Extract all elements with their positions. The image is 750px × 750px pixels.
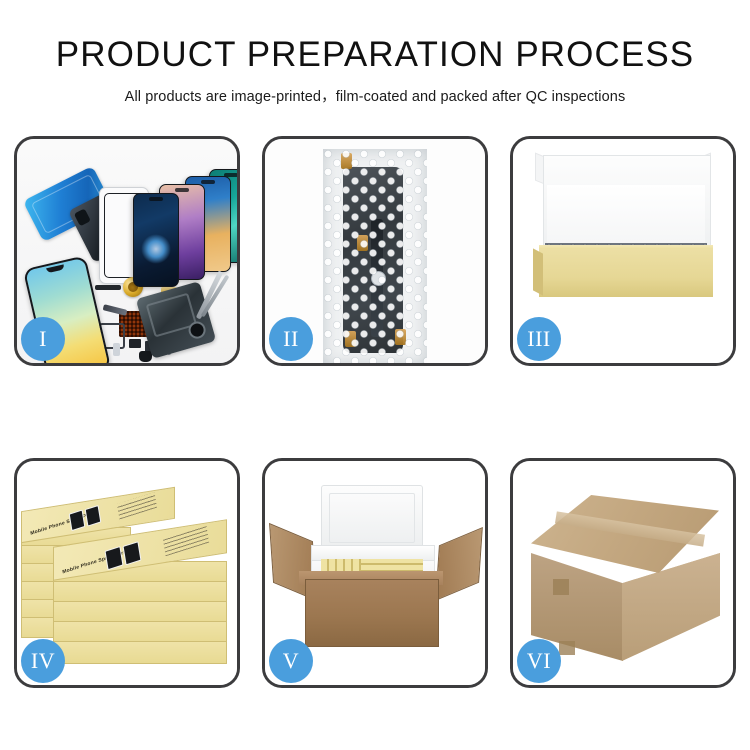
phone-notch-icon <box>149 197 163 201</box>
step-badge-1: I <box>21 317 65 361</box>
styrofoam-lid <box>321 485 423 551</box>
step-badge-4: IV <box>21 639 65 683</box>
box-label-phone-image <box>105 546 124 570</box>
spare-parts-box <box>53 641 227 664</box>
carton-flap-tab <box>559 641 575 655</box>
box-label-spec-lines <box>163 525 209 556</box>
step-badge-6: VI <box>517 639 561 683</box>
step-badge-5: V <box>269 639 313 683</box>
sim-tray-icon <box>113 343 120 356</box>
box-label-phone-image <box>85 505 102 527</box>
page-header: PRODUCT PREPARATION PROCESS All products… <box>0 34 750 106</box>
step-badge-3: III <box>517 317 561 361</box>
carton-flap-tab <box>553 579 569 595</box>
bubble-wrap-texture <box>323 149 427 363</box>
page-title: PRODUCT PREPARATION PROCESS <box>0 34 750 76</box>
box-label-spec-lines <box>117 492 157 519</box>
page-subtitle: All products are image-printed，film-coat… <box>0 85 750 106</box>
box-label-phone-image <box>69 509 86 531</box>
bubble-wrap-bag <box>323 149 427 363</box>
flex-cable-icon <box>103 304 128 316</box>
phone-notch-icon <box>201 180 215 184</box>
process-step-panel-3[interactable]: III <box>510 136 736 366</box>
process-step-panel-6[interactable]: VI <box>510 458 736 688</box>
adhesive-tape-strip-icon <box>95 285 121 290</box>
carton-body <box>305 579 439 647</box>
kraft-box-tray <box>539 249 713 297</box>
kraft-box-side <box>533 248 543 295</box>
chip-component-icon <box>129 339 141 348</box>
phone-dark-blue-icon <box>133 193 179 287</box>
process-step-panel-1[interactable]: I <box>14 136 240 366</box>
process-step-panel-4[interactable]: Mobile Phone Spare Parts Mobile Phone Sp… <box>14 458 240 688</box>
phone-notch-icon <box>175 188 189 192</box>
process-step-panel-2[interactable]: II <box>262 136 488 366</box>
box-label-phone-image <box>123 541 142 565</box>
process-step-grid: I II <box>14 136 736 688</box>
step-badge-2: II <box>269 317 313 361</box>
process-step-panel-5[interactable]: V <box>262 458 488 688</box>
